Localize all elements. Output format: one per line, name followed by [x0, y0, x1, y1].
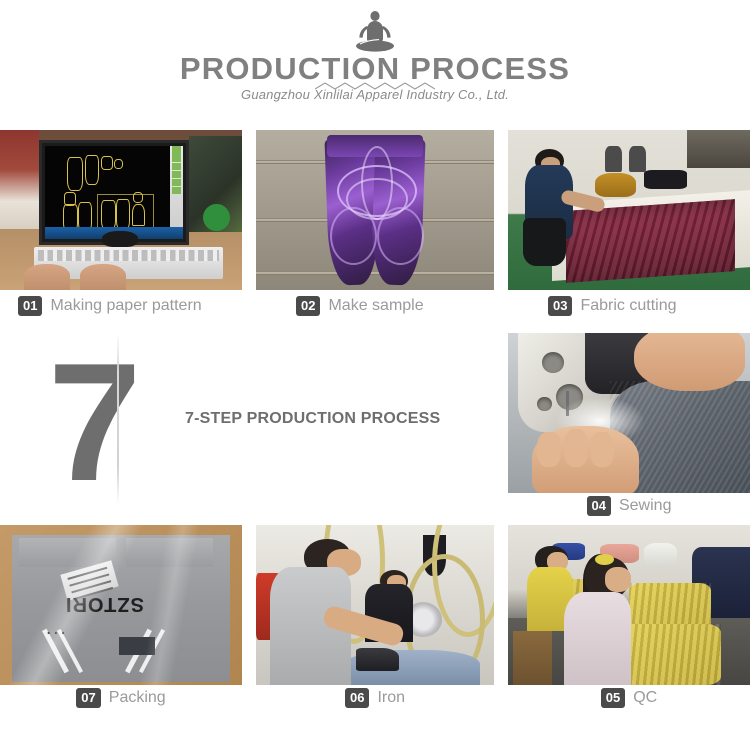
step-caption-4: 04 Sewing [508, 494, 750, 518]
step-badge-4: 04 [587, 496, 611, 516]
step-label-5: QC [633, 689, 657, 707]
step-caption-1: 01 Making paper pattern [18, 294, 248, 318]
step-image-iron [256, 525, 494, 685]
yoga-lotus-figure-icon [349, 8, 401, 54]
page-header: PRODUCTION PROCESS Guangzhou Xinlilai Ap… [0, 0, 750, 111]
photo-packing-carton: SZTORI ... [0, 525, 242, 685]
big-step-number: 7 [48, 338, 141, 506]
step-caption-7: 07 Packing [0, 686, 242, 710]
step-caption-5: 05 QC [508, 686, 750, 710]
step-label-6: Iron [377, 689, 405, 707]
step-caption-2: 02 Make sample [296, 294, 496, 318]
photo-ironing-station [256, 525, 494, 685]
photo-leggings-sample [256, 130, 494, 290]
step-image-sewing [508, 333, 750, 493]
step-image-make-sample [256, 130, 494, 290]
step-image-making-paper-pattern [0, 130, 242, 290]
step-label-3: Fabric cutting [580, 297, 676, 315]
step-badge-2: 02 [296, 296, 320, 316]
subtitle-block: Guangzhou Xinlilai Apparel Industry Co.,… [0, 87, 750, 111]
photo-qc-inspection [508, 525, 750, 685]
step-label-7: Packing [109, 689, 166, 707]
zigzag-line-icon [315, 81, 435, 91]
step-label-2: Make sample [328, 297, 423, 315]
step-badge-3: 03 [548, 296, 572, 316]
step-badge-1: 01 [18, 296, 42, 316]
seven-step-label: 7-STEP PRODUCTION PROCESS [185, 410, 440, 428]
step-badge-7: 07 [76, 688, 100, 708]
step-image-packing: SZTORI ... [0, 525, 242, 685]
photo-cad-workstation [0, 130, 242, 290]
photo-sewing-machine [508, 333, 750, 493]
step-caption-6: 06 Iron [256, 686, 494, 710]
vertical-divider [117, 333, 119, 505]
step-image-qc [508, 525, 750, 685]
step-label-4: Sewing [619, 497, 671, 515]
step-badge-6: 06 [345, 688, 369, 708]
step-label-1: Making paper pattern [50, 297, 201, 315]
step-badge-5: 05 [601, 688, 625, 708]
step-caption-3: 03 Fabric cutting [548, 294, 748, 318]
photo-fabric-cutting [508, 130, 750, 290]
step-image-fabric-cutting [508, 130, 750, 290]
